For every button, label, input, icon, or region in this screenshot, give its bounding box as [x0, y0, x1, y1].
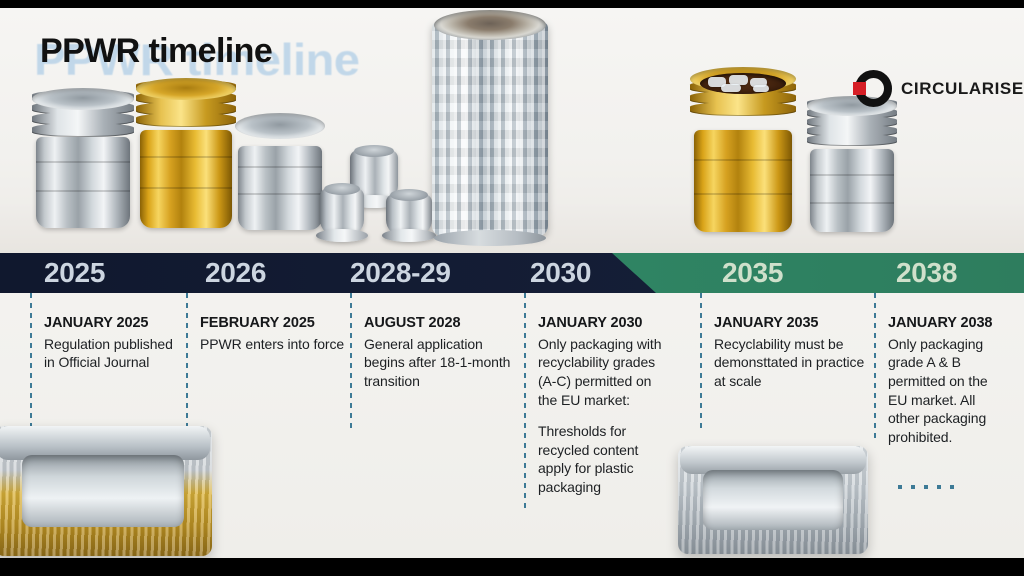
timeline-event-2028: AUGUST 2028 General application begins a…	[350, 293, 524, 558]
event-content: JANUARY 2038 Only packaging grade A & B …	[888, 315, 998, 446]
infographic-canvas: PPWR timeline PPWR timeline CIRCULARISE …	[0, 8, 1024, 558]
timeline-year-2025[interactable]: 2025	[44, 253, 105, 293]
cup-mouth	[235, 113, 326, 139]
timeline-year-2030[interactable]: 2030	[530, 253, 591, 293]
capsule-top	[390, 189, 429, 201]
timeline-year-2035[interactable]: 2035	[722, 253, 783, 293]
tray-inner	[703, 470, 844, 530]
event-heading: JANUARY 2038	[888, 315, 998, 333]
cup-ridge	[140, 156, 232, 158]
timeline-year-labels: 2025 2026 2028-29 2030 2035 2038	[0, 253, 1024, 293]
cup-ridge	[140, 187, 232, 189]
circularise-ring-icon	[855, 70, 892, 107]
can-base	[434, 230, 546, 246]
stacked-gold-cups	[140, 80, 232, 228]
cup-stack-rim	[690, 102, 796, 116]
logo-square-shape	[853, 82, 866, 95]
event-content: JANUARY 2025 Regulation published in Off…	[44, 315, 184, 372]
event-body: General application begins after 18-1-mo…	[364, 335, 520, 391]
cup-ridge	[238, 193, 322, 195]
cup-ridge	[238, 166, 322, 168]
event-body: Regulation published in Official Journal	[44, 335, 184, 372]
event-body-secondary: Thresholds for recycled content apply fo…	[538, 422, 662, 496]
cup-body	[810, 149, 894, 232]
coffee-capsule	[386, 194, 432, 236]
event-content: AUGUST 2028 General application begins a…	[364, 315, 520, 391]
foil-roll-can	[432, 8, 548, 248]
page-title-text: PPWR timeline	[40, 32, 272, 71]
event-heading: JANUARY 2030	[538, 315, 662, 333]
cup-stack-rim	[807, 134, 898, 146]
infographic-stage: PPWR timeline PPWR timeline CIRCULARISE …	[0, 0, 1024, 576]
event-heading: JANUARY 2025	[44, 315, 184, 333]
gold-foil-tray	[0, 426, 212, 556]
cup-stack-rim	[136, 113, 235, 127]
capsule-flange	[316, 229, 368, 242]
event-body: Recyclability must be demonsttated in pr…	[714, 335, 866, 391]
cup-stack-rim	[32, 123, 134, 137]
event-content: JANUARY 2035 Recyclability must be demon…	[714, 315, 866, 391]
event-content: FEBRUARY 2025 PPWR enters into force	[200, 315, 346, 353]
dotted-accent-line	[898, 485, 960, 489]
event-body: Only packaging with recyclability grades…	[538, 335, 662, 409]
event-content: JANUARY 2030 Only packaging with recycla…	[538, 315, 662, 497]
cup-ridge	[810, 174, 894, 176]
letterbox-top	[0, 0, 1024, 8]
tray-inner	[22, 455, 183, 528]
column-divider	[524, 293, 526, 513]
stacked-silver-cups	[36, 90, 130, 228]
ice-cube	[753, 85, 769, 92]
column-divider	[30, 293, 32, 429]
event-heading: AUGUST 2028	[364, 315, 520, 333]
cup-body	[694, 130, 792, 232]
coffee-capsule	[320, 188, 364, 236]
event-heading: JANUARY 2035	[714, 315, 866, 333]
cup-body	[36, 137, 130, 228]
timeline-bar: 2025 2026 2028-29 2030 2035 2038	[0, 253, 1024, 293]
timeline-year-2026[interactable]: 2026	[205, 253, 266, 293]
ice-cube	[721, 84, 742, 92]
event-body: PPWR enters into force	[200, 335, 346, 354]
can-opening	[434, 10, 546, 40]
cup-mouth	[32, 88, 134, 110]
timeline-event-2030: JANUARY 2030 Only packaging with recycla…	[524, 293, 700, 558]
can-body	[432, 22, 548, 236]
timeline-year-2028-29[interactable]: 2028-29	[350, 253, 451, 293]
cup-body	[140, 130, 232, 228]
column-divider	[186, 293, 188, 429]
iced-drink-gold-cup	[694, 70, 792, 232]
column-divider	[350, 293, 352, 429]
column-divider	[700, 293, 702, 429]
single-silver-cup	[238, 116, 322, 230]
capsule-top	[354, 145, 394, 157]
cup-ridge	[810, 202, 894, 204]
cup-body	[238, 146, 322, 230]
event-body: Only packaging grade A & B permitted on …	[888, 335, 998, 447]
timeline-year-2038[interactable]: 2038	[896, 253, 957, 293]
cup-ridge	[694, 193, 792, 195]
timeline-event-2038: JANUARY 2038 Only packaging grade A & B …	[874, 293, 1024, 558]
cup-ridge	[36, 161, 130, 163]
cup-ridge	[694, 159, 792, 161]
stacked-silver-cups-right	[810, 98, 894, 232]
event-heading: FEBRUARY 2025	[200, 315, 346, 333]
capsule-flange	[382, 229, 436, 242]
silver-foil-tray	[678, 446, 868, 554]
letterbox-bottom	[0, 558, 1024, 576]
column-divider	[874, 293, 876, 443]
capsule-top	[324, 183, 361, 195]
cup-ridge	[36, 190, 130, 192]
brand-logo[interactable]: CIRCULARISE	[855, 70, 1024, 107]
brand-name: CIRCULARISE	[901, 79, 1024, 99]
